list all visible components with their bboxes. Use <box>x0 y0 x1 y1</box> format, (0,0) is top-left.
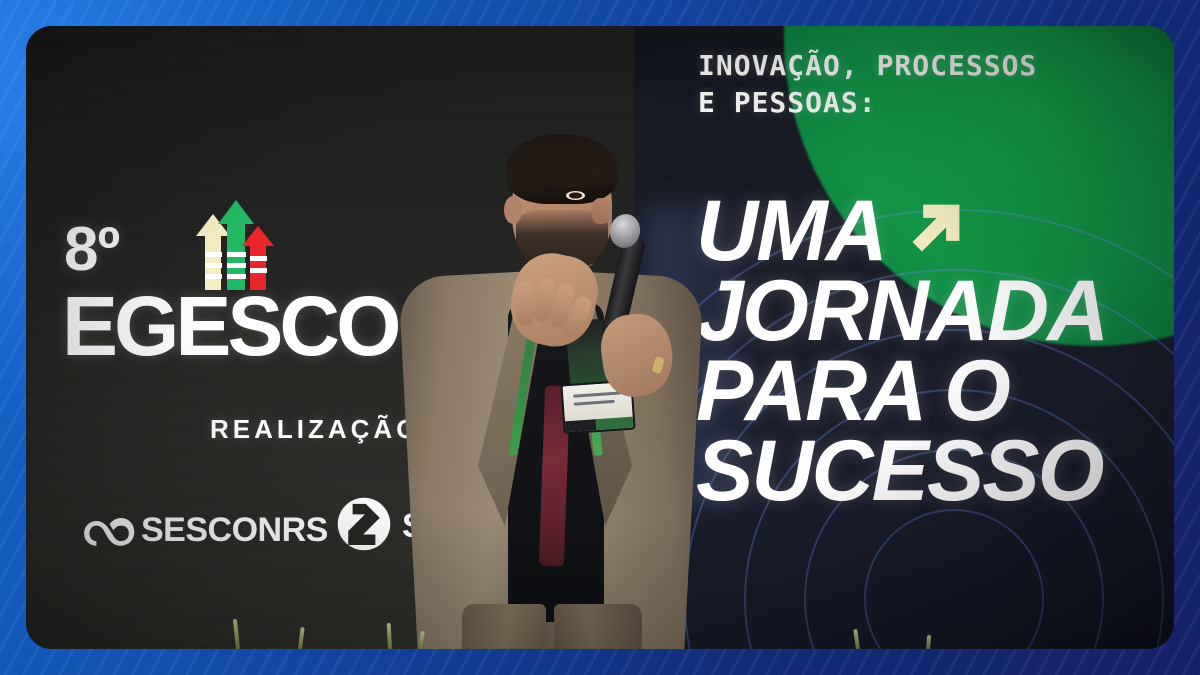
realization-label: REALIZAÇÃO: <box>210 414 433 445</box>
wedding-ring <box>652 356 665 374</box>
hair <box>506 134 618 204</box>
headline-line-1: UMA <box>696 192 1174 272</box>
outer-blue-frame: INOVAÇÃO, PROCESSOS E PESSOAS: UMA JORNA… <box>0 0 1200 675</box>
stage-photo-panel: INOVAÇÃO, PROCESSOS E PESSOAS: UMA JORNA… <box>26 26 1174 649</box>
event-name: EGESCO <box>62 278 397 375</box>
slide-kicker-text: INOVAÇÃO, PROCESSOS E PESSOAS: <box>698 48 1037 122</box>
conference-speaker <box>416 124 716 649</box>
headline-line-4: SUCESSO <box>696 432 1174 512</box>
slide-headline: UMA JORNADA PARA O SUCESSO <box>696 192 1174 512</box>
sponsor-sesconrs-name: SESCONRS <box>141 511 328 550</box>
headline-line-3: PARA O <box>696 352 1174 432</box>
stage-grass <box>26 609 1174 649</box>
edition-number: 8º <box>64 214 119 285</box>
headline-line-2: JORNADA <box>696 272 1174 352</box>
ear <box>504 196 522 224</box>
event-logo: 8º EGESCO <box>60 194 450 364</box>
eye <box>566 191 585 200</box>
sponsor-sesconrs: SESCONRS <box>81 504 328 557</box>
sesconrs-infinity-icon <box>81 504 135 557</box>
diagonal-up-right-arrow-icon <box>898 192 972 266</box>
sescap-circle-icon <box>336 496 392 557</box>
